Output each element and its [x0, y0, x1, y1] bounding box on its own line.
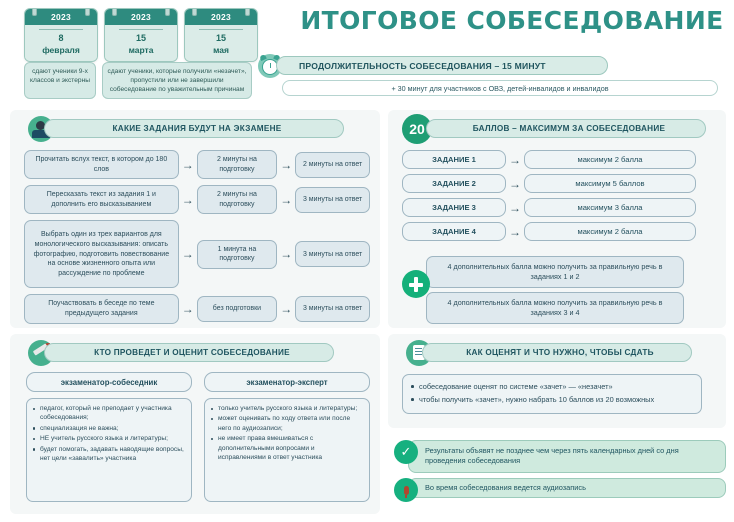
tasks-heading-pill: КАКИЕ ЗАДАНИЯ БУДУТ НА ЭКЗАМЕНЕ [44, 119, 344, 138]
points-max-value: максимум 2 балла [524, 150, 696, 169]
duration-note: + 30 минут для участников с ОВЗ, детей-и… [282, 80, 718, 96]
calendar-year-header: 2023 [25, 9, 97, 25]
arrow-right-icon: → [179, 193, 197, 207]
task-row: Выбрать один из трех вариантов для монол… [24, 220, 370, 288]
arrow-right-icon: → [506, 177, 524, 191]
arrow-right-icon: → [277, 193, 295, 207]
plus-circle-icon [402, 270, 430, 298]
who-column: экзаменатор-собеседник педагог, который … [26, 372, 192, 502]
task-answer-time: 3 минуты на ответ [295, 296, 370, 322]
calendar-ring-left [192, 8, 197, 16]
arrow-right-icon: → [277, 247, 295, 261]
arrow-right-icon: → [179, 302, 197, 316]
arrow-right-icon: → [277, 302, 295, 316]
task-prep-time: 2 минуты на подготовку [197, 185, 278, 214]
notice-results: ✓ Результаты объявят не позднее чем чере… [388, 440, 726, 473]
arrow-right-icon: → [277, 158, 295, 172]
calendar-body: 15 марта [105, 25, 177, 61]
task-description: Пересказать текст из задания 1 и дополни… [24, 185, 179, 214]
points-max-value: максимум 3 балла [524, 198, 696, 217]
who-column-title: экзаменатор-собеседник [26, 372, 192, 392]
eval-list-box: собеседование оценят по системе «зачет» … [402, 374, 702, 414]
arrow-right-icon: → [179, 247, 197, 261]
calendar-ring-right [165, 8, 170, 16]
task-row: Пересказать текст из задания 1 и дополни… [24, 185, 370, 214]
who-list-item: может оценивать по ходу ответа или после… [211, 414, 363, 433]
points-row: ЗАДАНИЕ 3 → максимум 3 балла [402, 198, 716, 217]
who-column: экзаменатор-эксперт только учитель русск… [204, 372, 370, 502]
who-heading-pill: КТО ПРОВЕДЕТ И ОЦЕНИТ СОБЕСЕДОВАНИЕ [44, 343, 334, 362]
calendar-ring-left [112, 8, 117, 16]
who-column-body: только учитель русского языка и литерату… [204, 398, 370, 502]
points-heading: БАЛЛОВ – МАКСИМУМ ЗА СОБЕСЕДОВАНИЕ [457, 124, 675, 133]
arrow-right-icon: → [506, 201, 524, 215]
points-max-value: максимум 2 балла [524, 222, 696, 241]
arrow-right-icon: → [506, 225, 524, 239]
who-list-item: будет помогать, задавать наводящие вопро… [33, 445, 185, 464]
arrow-right-icon: → [179, 158, 197, 172]
calendar-ring-left [32, 8, 37, 16]
tasks-panel: КАКИЕ ЗАДАНИЯ БУДУТ НА ЭКЗАМЕНЕ Прочитат… [10, 110, 380, 328]
points-max-value: максимум 5 баллов [524, 174, 696, 193]
who-column-body: педагог, который не преподает у участник… [26, 398, 192, 502]
calendar-card: 2023 8 февраля [24, 8, 98, 62]
who-columns: экзаменатор-собеседник педагог, который … [26, 372, 370, 502]
duration-pill: ПРОДОЛЖИТЕЛЬНОСТЬ СОБЕСЕДОВАНИЯ – 15 МИН… [276, 56, 608, 75]
who-section-header: КТО ПРОВЕДЕТ И ОЦЕНИТ СОБЕСЕДОВАНИЕ [10, 342, 380, 364]
calendar-month: мая [187, 44, 255, 56]
points-row: ЗАДАНИЕ 2 → максимум 5 баллов [402, 174, 716, 193]
calendar-day: 8 [39, 29, 83, 44]
top-header-area: 2023 8 февраля 2023 15 марта [0, 0, 734, 108]
who-column-title: экзаменатор-эксперт [204, 372, 370, 392]
task-prep-time: 2 минуты на подготовку [197, 150, 278, 179]
calendar-card: 2023 15 мая [184, 8, 258, 62]
calendar-year: 2023 [211, 12, 231, 22]
notice-audio: Во время собеседования ведется аудиозапи… [388, 478, 726, 498]
calendar-dates-row: 2023 8 февраля 2023 15 марта [24, 8, 258, 62]
eval-list-item: собеседование оценят по системе «зачет» … [411, 381, 693, 392]
calendar-day: 15 [199, 29, 243, 44]
eval-section-header: КАК ОЦЕНЯТ И ЧТО НУЖНО, ЧТОБЫ СДАТЬ [388, 342, 726, 364]
calendar-month: марта [107, 44, 175, 56]
points-row: ЗАДАНИЕ 1 → максимум 2 балла [402, 150, 716, 169]
points-row: ЗАДАНИЕ 4 → максимум 2 балла [402, 222, 716, 241]
task-description: Поучаствовать в беседе по теме предыдуще… [24, 294, 179, 323]
bonus-block: 4 дополнительных балла можно получить за… [402, 256, 716, 328]
calendar-ring-right [85, 8, 90, 16]
who-panel: КТО ПРОВЕДЕТ И ОЦЕНИТ СОБЕСЕДОВАНИЕ экза… [10, 334, 380, 514]
points-panel: 20 БАЛЛОВ – МАКСИМУМ ЗА СОБЕСЕДОВАНИЕ ЗА… [388, 110, 726, 328]
who-list-item: специализация не важна; [33, 424, 185, 433]
points-task-label: ЗАДАНИЕ 4 [402, 222, 506, 241]
microphone-icon [394, 478, 418, 502]
task-prep-time: без подготовки [197, 296, 278, 322]
tasks-heading: КАКИЕ ЗАДАНИЯ БУДУТ НА ЭКЗАМЕНЕ [97, 124, 292, 133]
check-circle-icon: ✓ [394, 440, 418, 464]
bonus-item: 4 дополнительных балла можно получить за… [426, 292, 684, 324]
page-title: ИТОГОВОЕ СОБЕСЕДОВАНИЕ [300, 6, 724, 35]
notice-text: Результаты объявят не позднее чем через … [408, 440, 726, 473]
calendar-card: 2023 15 марта [104, 8, 178, 62]
task-description: Выбрать один из трех вариантов для монол… [24, 220, 179, 288]
calendar-year-header: 2023 [185, 9, 257, 25]
who-list-item: НЕ учитель русского языка и литературы; [33, 434, 185, 443]
arrow-right-icon: → [506, 153, 524, 167]
task-row: Прочитать вслух текст, в котором до 180 … [24, 150, 370, 179]
task-answer-time: 3 минуты на ответ [295, 241, 370, 267]
eval-panel: КАК ОЦЕНЯТ И ЧТО НУЖНО, ЧТОБЫ СДАТЬ собе… [388, 334, 726, 428]
who-list-item: педагог, который не преподает у участник… [33, 404, 185, 423]
bonus-item: 4 дополнительных балла можно получить за… [426, 256, 684, 288]
calendar-note: сдают ученики 9-х классов и экстерны [24, 62, 96, 99]
duration-block: ПРОДОЛЖИТЕЛЬНОСТЬ СОБЕСЕДОВАНИЯ – 15 МИН… [258, 54, 728, 76]
points-task-label: ЗАДАНИЕ 2 [402, 174, 506, 193]
calendar-year-header: 2023 [105, 9, 177, 25]
task-row: Поучаствовать в беседе по теме предыдуще… [24, 294, 370, 323]
duration-label: ПРОДОЛЖИТЕЛЬНОСТЬ СОБЕСЕДОВАНИЯ – 15 МИН… [277, 61, 546, 71]
calendar-note: сдают ученики, которые получили «незачет… [102, 62, 252, 99]
tasks-section-header: КАКИЕ ЗАДАНИЯ БУДУТ НА ЭКЗАМЕНЕ [10, 118, 380, 140]
calendar-body: 15 мая [185, 25, 257, 61]
tasks-rows: Прочитать вслух текст, в котором до 180 … [24, 150, 370, 330]
calendar-notes-row: сдают ученики 9-х классов и экстерны сда… [24, 62, 252, 99]
task-answer-time: 3 минуты на ответ [295, 187, 370, 213]
calendar-month: февраля [27, 44, 95, 56]
points-rows: ЗАДАНИЕ 1 → максимум 2 балла ЗАДАНИЕ 2 →… [402, 150, 716, 246]
calendar-year: 2023 [131, 12, 151, 22]
eval-heading: КАК ОЦЕНЯТ И ЧТО НУЖНО, ЧТОБЫ СДАТЬ [450, 348, 664, 357]
points-section-header: 20 БАЛЛОВ – МАКСИМУМ ЗА СОБЕСЕДОВАНИЕ [388, 118, 726, 140]
who-list-item: не имеет права вмешиваться с дополнитель… [211, 434, 363, 462]
eval-heading-pill: КАК ОЦЕНЯТ И ЧТО НУЖНО, ЧТОБЫ СДАТЬ [422, 343, 692, 362]
notice-text: Во время собеседования ведется аудиозапи… [408, 478, 726, 498]
who-list-item: только учитель русского языка и литерату… [211, 404, 363, 413]
task-prep-time: 1 минута на подготовку [197, 240, 278, 269]
points-task-label: ЗАДАНИЕ 3 [402, 198, 506, 217]
task-description: Прочитать вслух текст, в котором до 180 … [24, 150, 179, 179]
calendar-year: 2023 [51, 12, 71, 22]
eval-list-item: чтобы получить «зачет», нужно набрать 10… [411, 394, 693, 405]
infographic-page: 2023 8 февраля 2023 15 марта [0, 0, 734, 522]
points-heading-pill: БАЛЛОВ – МАКСИМУМ ЗА СОБЕСЕДОВАНИЕ [426, 119, 706, 138]
calendar-body: 8 февраля [25, 25, 97, 61]
task-answer-time: 2 минуты на ответ [295, 152, 370, 178]
calendar-day: 15 [119, 29, 163, 44]
calendar-ring-right [245, 8, 250, 16]
points-task-label: ЗАДАНИЕ 1 [402, 150, 506, 169]
who-heading: КТО ПРОВЕДЕТ И ОЦЕНИТ СОБЕСЕДОВАНИЕ [78, 348, 300, 357]
